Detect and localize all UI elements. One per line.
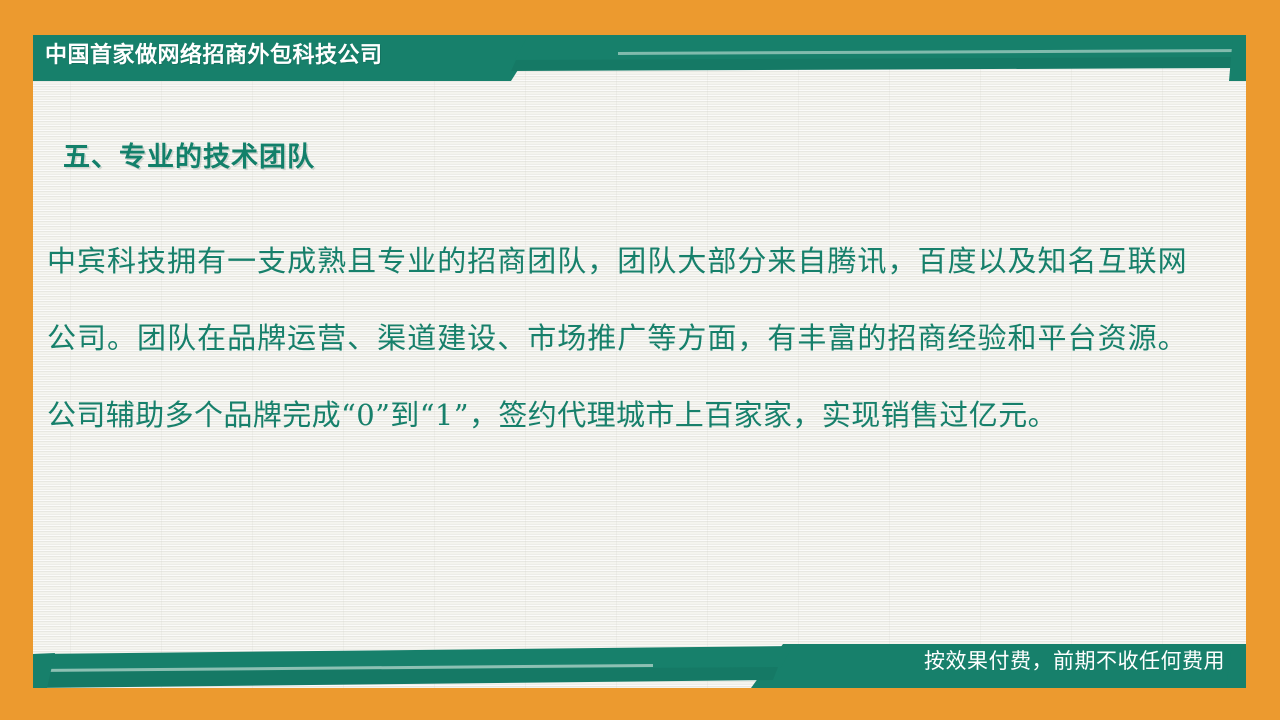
- header-title: 中国首家做网络招商外包科技公司: [45, 40, 383, 72]
- slide-content: 五、专业的技术团队 中宾科技拥有一支成熟且专业的招商团队，团队大部分来自腾讯，百…: [33, 81, 1246, 636]
- slide-canvas: 中国首家做网络招商外包科技公司 五、专业的技术团队 中宾科技拥有一支成熟且专业的…: [0, 0, 1280, 720]
- footer-tagline: 按效果付费，前期不收任何费用: [924, 647, 1225, 675]
- section-heading: 五、专业的技术团队: [63, 135, 315, 174]
- body-text: 中宾科技拥有一支成熟且专业的招商团队，团队大部分来自腾讯，百度以及知名互联网公司…: [47, 223, 1187, 454]
- body-paragraph: 中宾科技拥有一支成熟且专业的招商团队，团队大部分来自腾讯，百度以及知名互联网公司…: [47, 223, 1187, 454]
